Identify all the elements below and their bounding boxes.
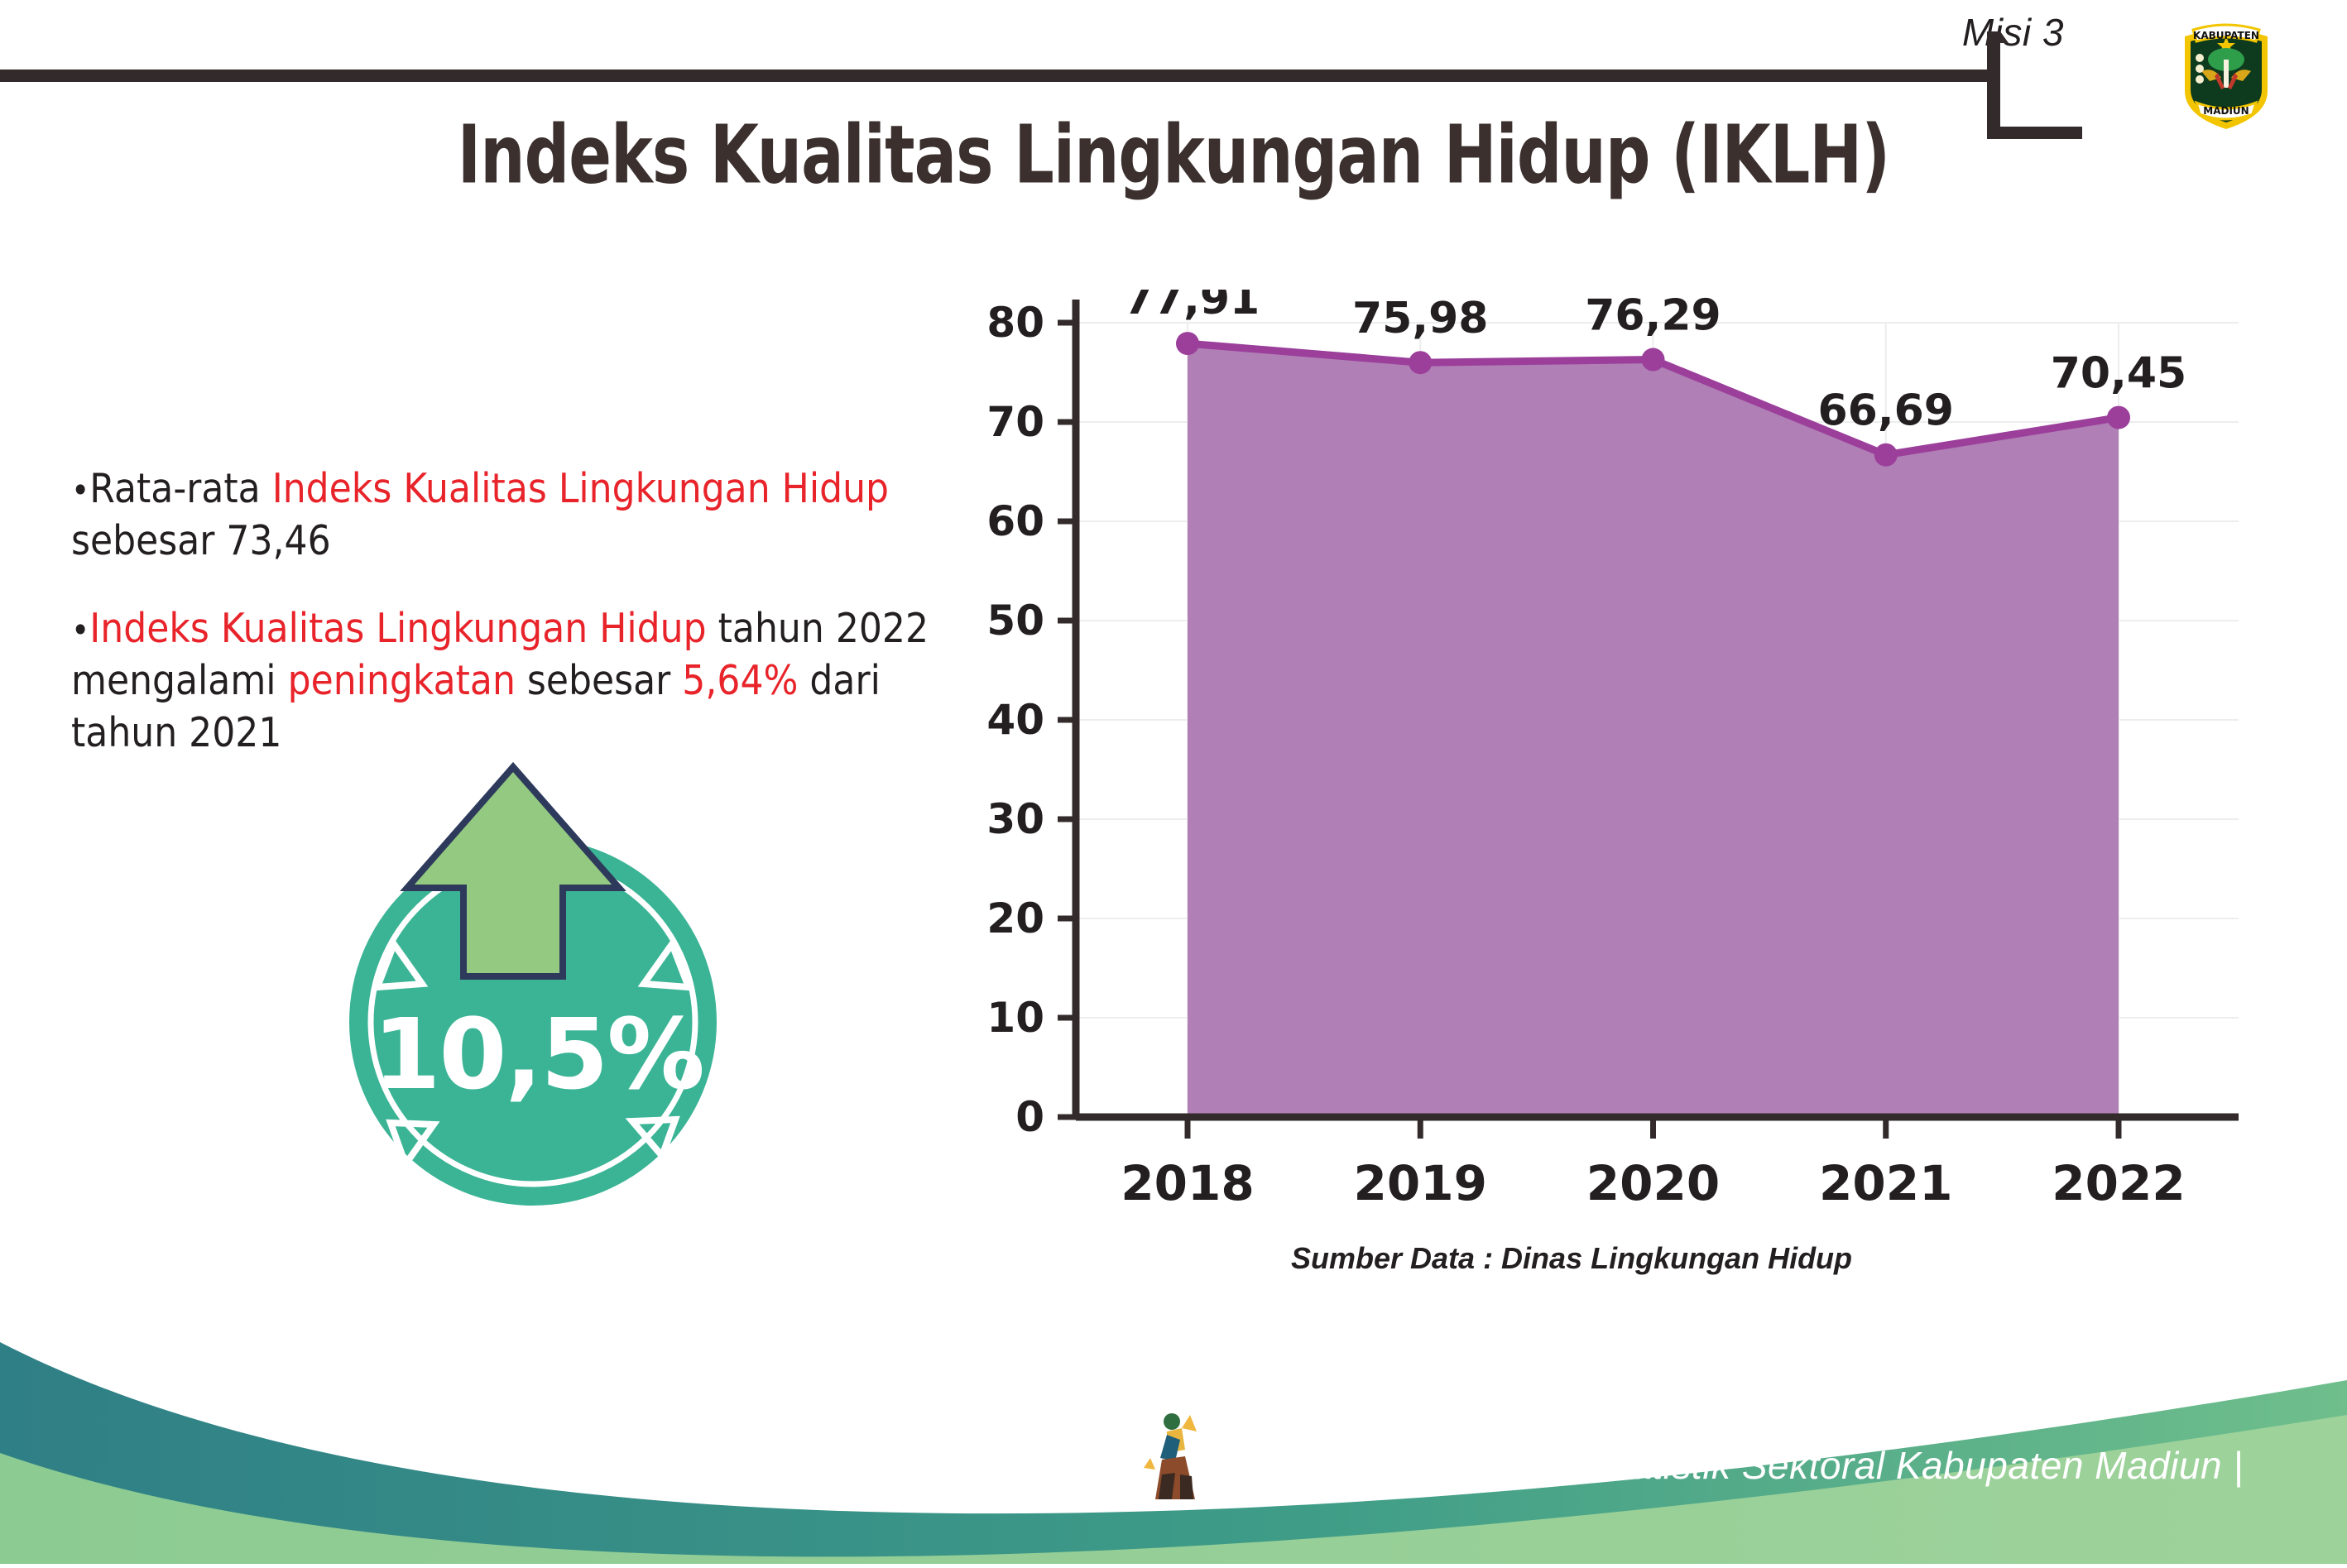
bullet-list: •Rata-rata Indeks Kualitas Lingkungan Hi… — [71, 463, 973, 796]
dancer-logo-icon — [1142, 1407, 1215, 1506]
dancer-head — [1164, 1413, 1180, 1430]
logo-bead-2 — [2196, 65, 2204, 73]
dancer-scarf — [1182, 1415, 1197, 1431]
y-tick-label-6: 60 — [986, 497, 1044, 545]
bullet-2-rich: Indeks Kualitas Lingkungan Hidup tahun 2… — [71, 605, 929, 755]
badge-percent-label: 10,5% — [314, 997, 761, 1111]
bullet-item-1: •Rata-rata Indeks Kualitas Lingkungan Hi… — [71, 463, 972, 567]
data-label-2021: 66,69 — [1818, 386, 1954, 436]
x-tick-label-2020: 2020 — [1586, 1155, 1720, 1211]
data-point-2021 — [1874, 444, 1898, 467]
data-point-2022 — [2107, 406, 2130, 429]
footer-label: Media Infografis Data Statistik Sektoral… — [1212, 1443, 2244, 1488]
data-label-2019: 75,98 — [1352, 294, 1488, 343]
dancer-leg-right — [1180, 1474, 1193, 1499]
y-tick-label-2: 20 — [986, 894, 1044, 942]
dancer-sash — [1160, 1435, 1180, 1461]
x-tick-label-2021: 2021 — [1819, 1155, 1952, 1211]
increase-badge: 10,5% — [314, 749, 761, 1212]
y-tick-label-3: 30 — [986, 795, 1044, 843]
y-tick-label-0: 0 — [1015, 1093, 1044, 1141]
data-point-2019 — [1409, 351, 1432, 374]
bullet-marker: • — [71, 610, 89, 650]
bullet-marker: • — [71, 470, 89, 511]
x-tick-label-2019: 2019 — [1354, 1155, 1487, 1211]
data-label-2022: 70,45 — [2051, 349, 2186, 399]
y-tick-label-4: 40 — [986, 696, 1044, 744]
logo-bead-1 — [2196, 54, 2204, 62]
x-tick-label-2018: 2018 — [1121, 1155, 1254, 1211]
data-point-2020 — [1642, 348, 1665, 372]
bullet-item-2: •Indeks Kualitas Lingkungan Hidup tahun … — [71, 603, 972, 759]
bullet-2-segment-3: peningkatan — [288, 657, 516, 704]
header-rule — [0, 70, 1988, 82]
data-point-2018 — [1176, 332, 1199, 355]
logo-keris-icon — [2224, 60, 2229, 88]
logo-top-text: KABUPATEN — [2193, 30, 2259, 41]
y-tick-label-8: 80 — [986, 299, 1044, 347]
y-tick-label-7: 70 — [986, 398, 1044, 446]
bullet-1-rich: Rata-rata Indeks Kualitas Lingkungan Hid… — [71, 465, 889, 564]
bullet-2-segment-1: Indeks Kualitas Lingkungan Hidup — [89, 605, 706, 652]
bullet-2-segment-5: 5,64% — [682, 657, 798, 704]
bullet-2-segment-4: sebesar — [516, 657, 682, 704]
bullet-1-segment-2: Indeks Kualitas Lingkungan Hidup — [272, 465, 889, 512]
slide-canvas: Misi 3 KABUPATEN MADIUN Indeks Kualitas … — [0, 0, 2347, 1564]
iklh-area-chart: 77,9175,9876,2966,6970,45010203040506070… — [952, 290, 2276, 1299]
bullet-1-segment-1: Rata-rata — [89, 465, 271, 512]
logo-bead-3 — [2196, 75, 2204, 84]
bullet-1-segment-3: sebesar 73,46 — [71, 517, 331, 564]
footer-banner: Media Infografis Data Statistik Sektoral… — [0, 1291, 2347, 1564]
x-tick-label-2022: 2022 — [2052, 1155, 2185, 1211]
page-title: Indeks Kualitas Lingkungan Hidup (IKLH) — [82, 109, 2264, 202]
chart-area-fill — [1188, 343, 2119, 1117]
data-label-2018: 77,91 — [1124, 290, 1260, 324]
y-tick-label-1: 10 — [986, 994, 1044, 1042]
dancer-hand — [1144, 1458, 1155, 1470]
y-tick-label-5: 50 — [986, 597, 1044, 645]
data-label-2020: 76,29 — [1585, 291, 1721, 341]
chart-source-note: Sumber Data : Dinas Lingkungan Hidup — [1291, 1241, 1852, 1276]
